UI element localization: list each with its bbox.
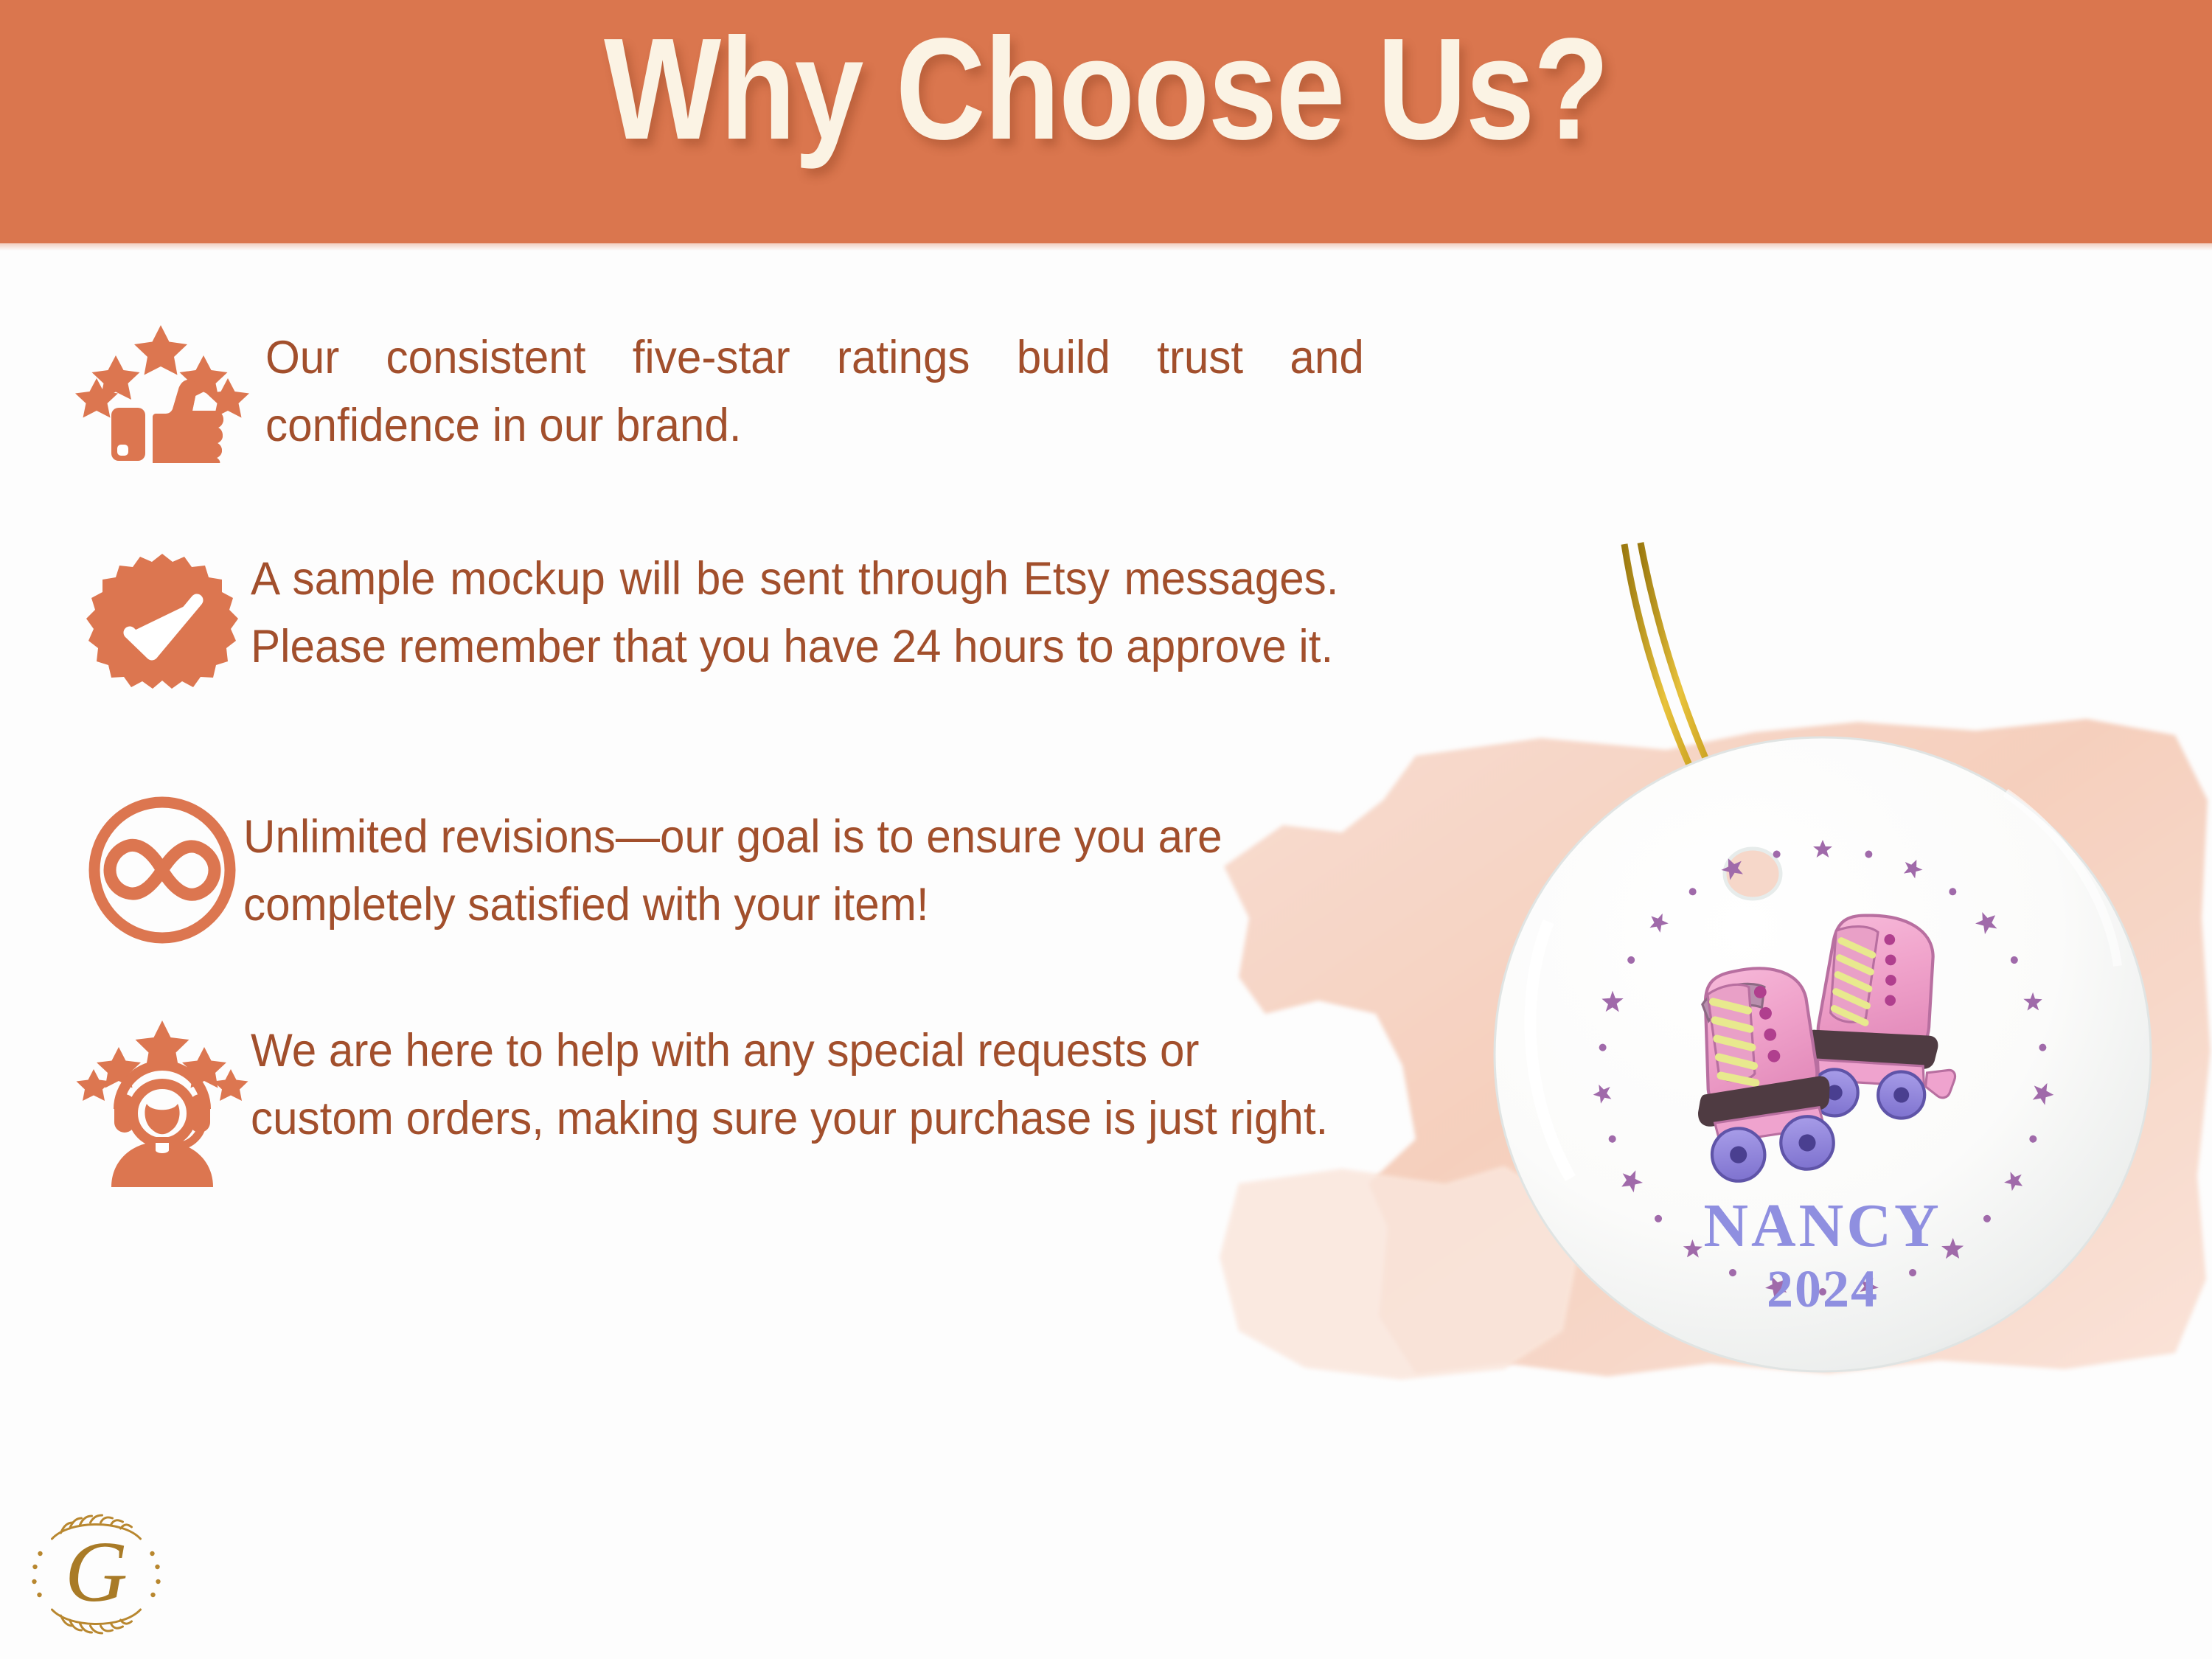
verified-badge-check-icon [59,538,265,723]
benefit-item: We are here to help with any special req… [59,1010,1445,1194]
benefit-text: A sample mockup will be sent through Ets… [251,538,1338,681]
brand-logo: G [21,1500,172,1648]
ornament-year-text: 2024 [1767,1259,1879,1318]
benefit-text: Our consistent five-star ratings build t… [265,317,1364,460]
product-ornament-image: NANCY 2024 [1445,538,2197,1423]
benefit-item: Unlimited revisions—our goal is to ensur… [59,796,1445,944]
header-banner: Why Choose Us? [0,0,2212,243]
customer-support-agent-stars-icon [59,1010,265,1194]
infinity-circle-icon [59,796,265,944]
benefit-text: We are here to help with any special req… [251,1010,1338,1153]
page-title: Why Choose Us? [155,13,2057,165]
benefit-item: A sample mockup will be sent through Ets… [59,538,1445,723]
five-star-thumbs-up-icon [59,317,265,465]
benefit-text: Unlimited revisions—our goal is to ensur… [243,796,1331,939]
logo-monogram: G [65,1523,128,1620]
ornament-name-text: NANCY [1703,1192,1941,1260]
benefit-item: Our consistent five-star ratings build t… [59,317,1445,465]
benefits-list: Our consistent five-star ratings build t… [59,317,1445,1194]
slide-canvas: Why Choose Us? [0,0,2212,1659]
